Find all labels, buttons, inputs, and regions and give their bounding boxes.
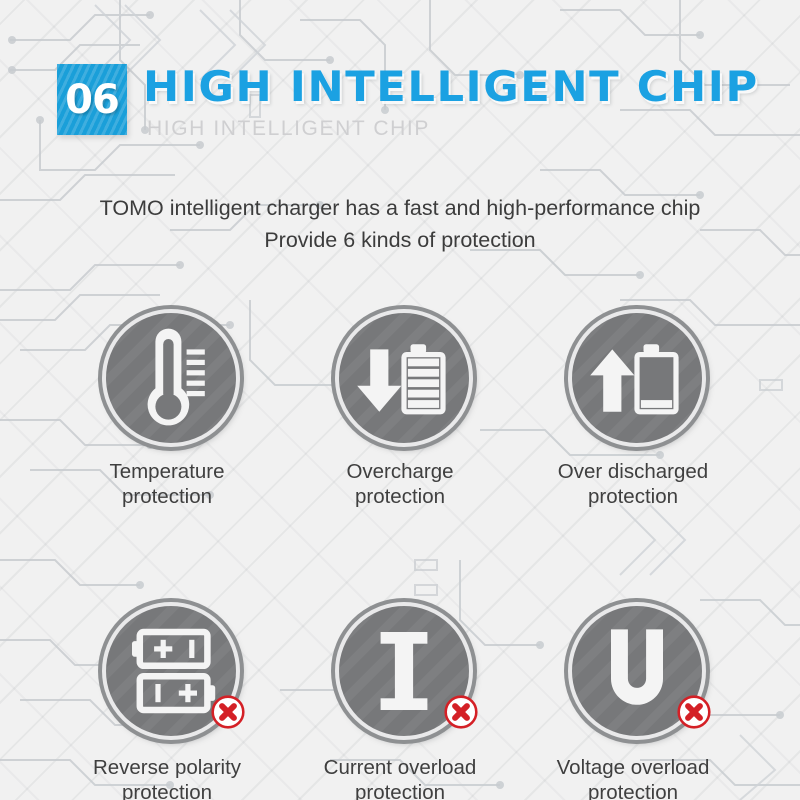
feature-label: Voltage overload protection xyxy=(557,755,710,800)
icon-circle-wrap xyxy=(559,593,707,741)
infographic-page: 06 HIGH INTELLIGENT CHIP HIGH INTELLIGEN… xyxy=(0,0,800,800)
icon-circle-wrap xyxy=(93,300,241,448)
lead-line-2: Provide 6 kinds of protection xyxy=(0,224,800,256)
feature-label: Overcharge protection xyxy=(346,459,453,509)
feature-label: Reverse polarity protection xyxy=(93,755,241,800)
icon-circle-wrap xyxy=(559,300,707,448)
feature-item-overcharge: Overcharge protection xyxy=(284,300,517,509)
feature-item-voltage-overload: Voltage overload protection xyxy=(517,593,750,800)
section-number-badge: 06 xyxy=(57,64,127,135)
up-arrow-empty-battery-icon xyxy=(572,313,702,443)
page-subtitle-ghost: HIGH INTELLIGENT CHIP xyxy=(147,117,430,141)
prohibited-x-badge-icon xyxy=(677,695,711,729)
header: 06 HIGH INTELLIGENT CHIP HIGH INTELLIGEN… xyxy=(0,0,800,165)
feature-item-over-discharged: Over discharged protection xyxy=(517,300,750,509)
prohibited-x-badge-icon xyxy=(444,695,478,729)
feature-label: Current overload protection xyxy=(324,755,477,800)
icon-circle-wrap xyxy=(326,300,474,448)
feature-item-current-overload: Current overload protection xyxy=(284,593,517,800)
lead-paragraph: TOMO intelligent charger has a fast and … xyxy=(0,192,800,256)
protection-feature-grid: Temperature protection xyxy=(0,300,800,800)
feature-item-reverse-polarity: Reverse polarity protection xyxy=(51,593,284,800)
feature-label: Over discharged protection xyxy=(558,459,708,509)
down-arrow-full-battery-icon xyxy=(339,313,469,443)
icon-circle xyxy=(335,309,473,447)
prohibited-x-badge-icon xyxy=(211,695,245,729)
feature-row-bottom: Reverse polarity protection xyxy=(0,593,800,800)
lead-line-1: TOMO intelligent charger has a fast and … xyxy=(100,196,701,220)
section-number: 06 xyxy=(65,80,119,120)
feature-item-temperature: Temperature protection xyxy=(51,300,284,509)
icon-circle-wrap xyxy=(326,593,474,741)
thermometer-icon xyxy=(106,313,236,443)
page-title: HIGH INTELLIGENT CHIP xyxy=(143,62,759,111)
icon-circle xyxy=(568,309,706,447)
feature-row-top: Temperature protection xyxy=(0,300,800,509)
feature-label: Temperature protection xyxy=(109,459,224,509)
icon-circle-wrap xyxy=(93,593,241,741)
icon-circle xyxy=(102,309,240,447)
